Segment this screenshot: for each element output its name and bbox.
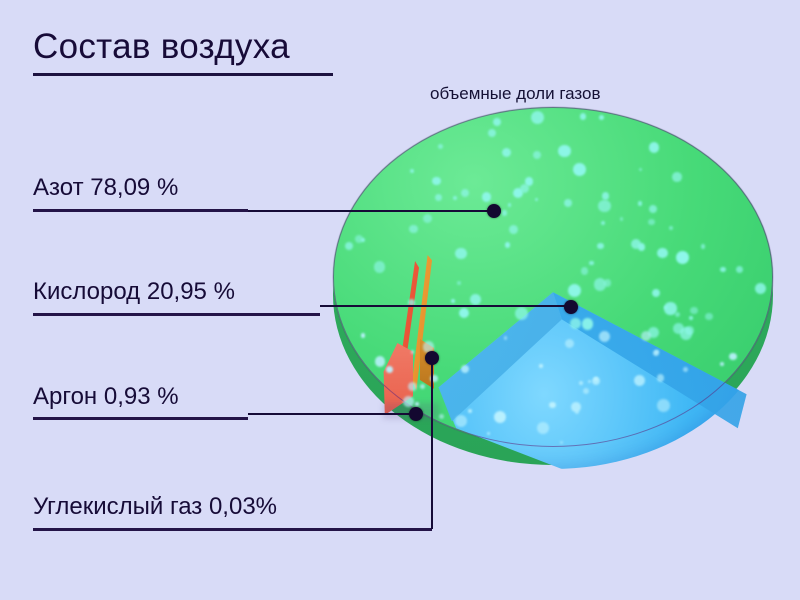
sparkle-bubble	[648, 219, 654, 225]
sparkle-bubble	[652, 289, 660, 297]
sparkle-bubble	[487, 432, 490, 435]
sparkle-bubble	[582, 318, 594, 330]
sparkle-bubble	[439, 414, 444, 419]
sparkle-bubble	[570, 318, 581, 329]
sparkle-bubble	[361, 238, 365, 242]
sparkle-bubble	[701, 244, 705, 248]
sparkle-bubble	[571, 402, 581, 412]
sparkle-bubble	[505, 242, 510, 247]
sparkle-bubble	[602, 192, 610, 200]
leader-dot-oxygen	[564, 300, 578, 314]
label-carbon-dioxide-underline	[33, 528, 432, 531]
sparkle-bubble	[685, 326, 694, 335]
label-carbon-dioxide: Углекислый газ 0,03%	[33, 495, 277, 519]
pie-chart	[325, 103, 780, 488]
sparkle-bubble	[386, 366, 393, 373]
sparkle-bubble	[594, 278, 606, 290]
sparkle-bubble	[580, 113, 586, 119]
sparkle-bubble	[409, 225, 417, 233]
sparkle-bubble	[597, 243, 603, 249]
sparkle-bubble	[535, 198, 538, 201]
sparkle-bubble	[573, 163, 586, 176]
sparkle-bubble	[502, 148, 511, 157]
sparkle-bubble	[601, 221, 605, 225]
sparkle-bubble	[539, 364, 542, 367]
leader-line-carbon-dioxide	[431, 358, 433, 529]
sparkle-bubble	[457, 281, 461, 285]
sparkle-bubble	[408, 382, 417, 391]
sparkle-bubble	[705, 313, 712, 320]
sparkle-bubble	[579, 381, 583, 385]
sparkle-bubble	[689, 316, 693, 320]
sparkle-bubble	[558, 145, 570, 157]
sparkle-bubble	[729, 353, 737, 361]
sparkle-bubble	[657, 399, 670, 412]
sparkle-bubble	[589, 261, 594, 266]
leader-line-argon	[248, 413, 418, 415]
label-argon-underline	[33, 417, 248, 420]
sparkle-bubble	[638, 201, 643, 206]
sparkle-bubble	[432, 177, 440, 185]
leader-line-oxygen	[320, 305, 572, 307]
sparkle-bubble	[672, 172, 682, 182]
label-nitrogen-underline	[33, 209, 248, 212]
sparkle-bubble	[435, 194, 442, 201]
sparkle-bubble	[720, 362, 724, 366]
leader-dot-nitrogen	[487, 204, 501, 218]
chart-subtitle: объемные доли газов	[430, 84, 601, 104]
sparkle-bubble	[455, 248, 467, 260]
sparkle-bubble	[657, 374, 665, 382]
leader-line-nitrogen	[248, 210, 494, 212]
sparkle-bubble	[537, 422, 549, 434]
label-argon: Аргон 0,93 %	[33, 385, 179, 409]
sparkle-bubble	[669, 226, 673, 230]
leader-dot-argon	[409, 407, 423, 421]
sparkle-bubble	[564, 199, 572, 207]
sparkle-bubble	[502, 210, 508, 216]
pie-outline	[333, 107, 773, 447]
title-underline	[33, 73, 333, 76]
sparkle-bubble	[470, 294, 481, 305]
slide-canvas: Состав воздуха объемные доли газов Азот …	[0, 0, 800, 600]
leader-dot-carbon-dioxide	[425, 351, 439, 365]
sparkle-bubble	[639, 168, 642, 171]
label-oxygen-underline	[33, 313, 320, 316]
sparkle-bubble	[649, 142, 660, 153]
sparkle-bubble	[525, 177, 533, 185]
sparkle-bubble	[664, 302, 676, 314]
sparkle-bubble	[549, 402, 556, 409]
sparkle-bubble	[411, 350, 414, 353]
page-title: Состав воздуха	[33, 27, 290, 67]
sparkle-bubble	[375, 356, 385, 366]
sparkle-bubble	[657, 248, 667, 258]
sparkle-bubble	[451, 299, 455, 303]
sparkle-bubble	[461, 365, 469, 373]
label-nitrogen: Азот 78,09 %	[33, 176, 178, 200]
sparkle-bubble	[598, 200, 611, 213]
sparkle-bubble	[361, 333, 365, 337]
sparkle-bubble	[581, 267, 588, 274]
label-oxygen: Кислород 20,95 %	[33, 280, 235, 304]
sparkle-bubble	[649, 205, 657, 213]
sparkle-bubble	[676, 251, 689, 264]
